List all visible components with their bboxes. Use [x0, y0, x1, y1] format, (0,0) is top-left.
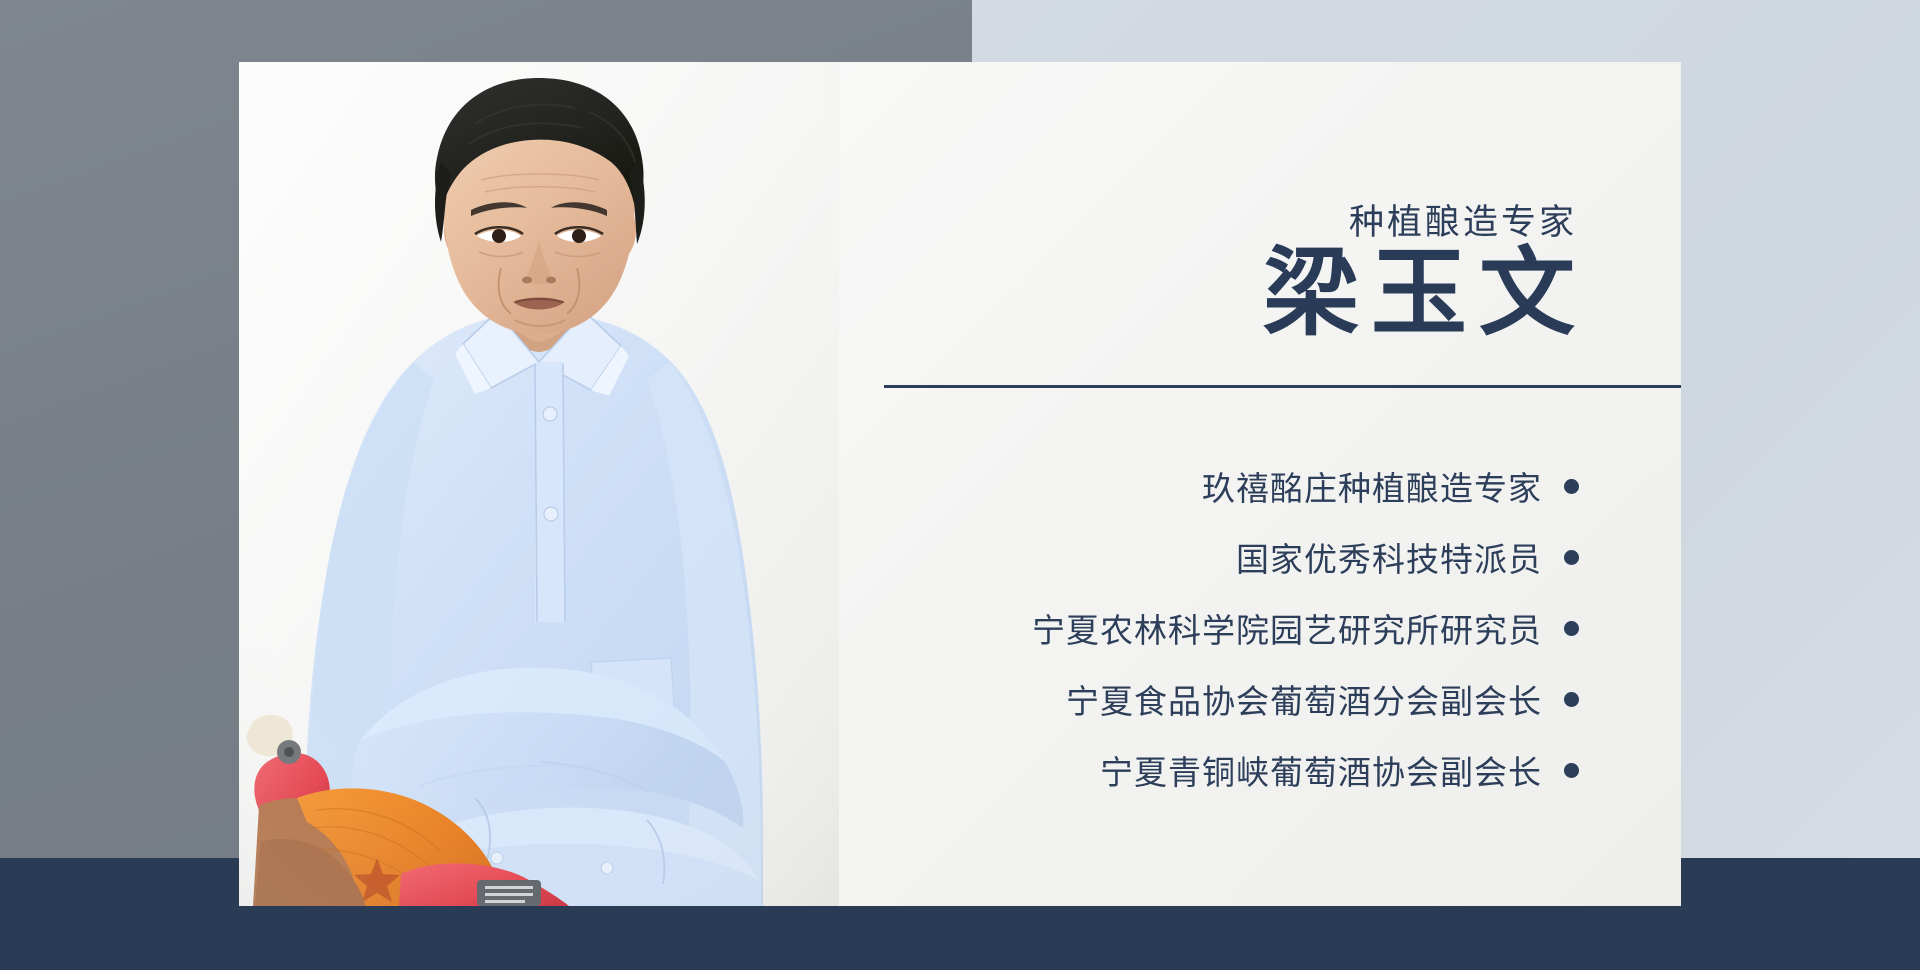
list-item: 国家优秀科技特派员 [939, 533, 1579, 581]
credentials-list: 玖禧酩庄种植酿造专家 国家优秀科技特派员 宁夏农林科学院园艺研究所研究员 宁夏食… [939, 462, 1579, 794]
list-item: 玖禧酩庄种植酿造专家 [939, 462, 1579, 510]
credential-label: 宁夏农林科学院园艺研究所研究员 [1032, 604, 1542, 652]
bullet-icon [1564, 550, 1579, 565]
bullet-icon [1564, 692, 1579, 707]
bullet-icon [1564, 479, 1579, 494]
title-divider [884, 380, 1681, 392]
list-item: 宁夏青铜峡葡萄酒协会副会长 [939, 746, 1579, 794]
divider-line [884, 385, 1681, 388]
bullet-icon [1564, 763, 1579, 778]
credential-label: 国家优秀科技特派员 [1236, 533, 1542, 581]
background-navy-right-block [1681, 858, 1920, 970]
credential-label: 宁夏青铜峡葡萄酒协会副会长 [1100, 746, 1542, 794]
credential-label: 宁夏食品协会葡萄酒分会副会长 [1066, 675, 1542, 723]
profile-eyebrow: 种植酿造专家 [1349, 194, 1577, 245]
profile-card: 种植酿造专家 梁玉文 玖禧酩庄种植酿造专家 国家优秀科技特派员 宁夏农林科学院园… [239, 62, 1681, 906]
profile-text-column: 种植酿造专家 梁玉文 玖禧酩庄种植酿造专家 国家优秀科技特派员 宁夏农林科学院园… [939, 62, 1619, 906]
list-item: 宁夏农林科学院园艺研究所研究员 [939, 604, 1579, 652]
portrait-photo [239, 62, 839, 906]
profile-banner: 种植酿造专家 梁玉文 玖禧酩庄种植酿造专家 国家优秀科技特派员 宁夏农林科学院园… [0, 0, 1920, 970]
bullet-icon [1564, 621, 1579, 636]
list-item: 宁夏食品协会葡萄酒分会副会长 [939, 675, 1579, 723]
page-title: 梁玉文 [1263, 244, 1587, 345]
credential-label: 玖禧酩庄种植酿造专家 [1202, 462, 1542, 510]
